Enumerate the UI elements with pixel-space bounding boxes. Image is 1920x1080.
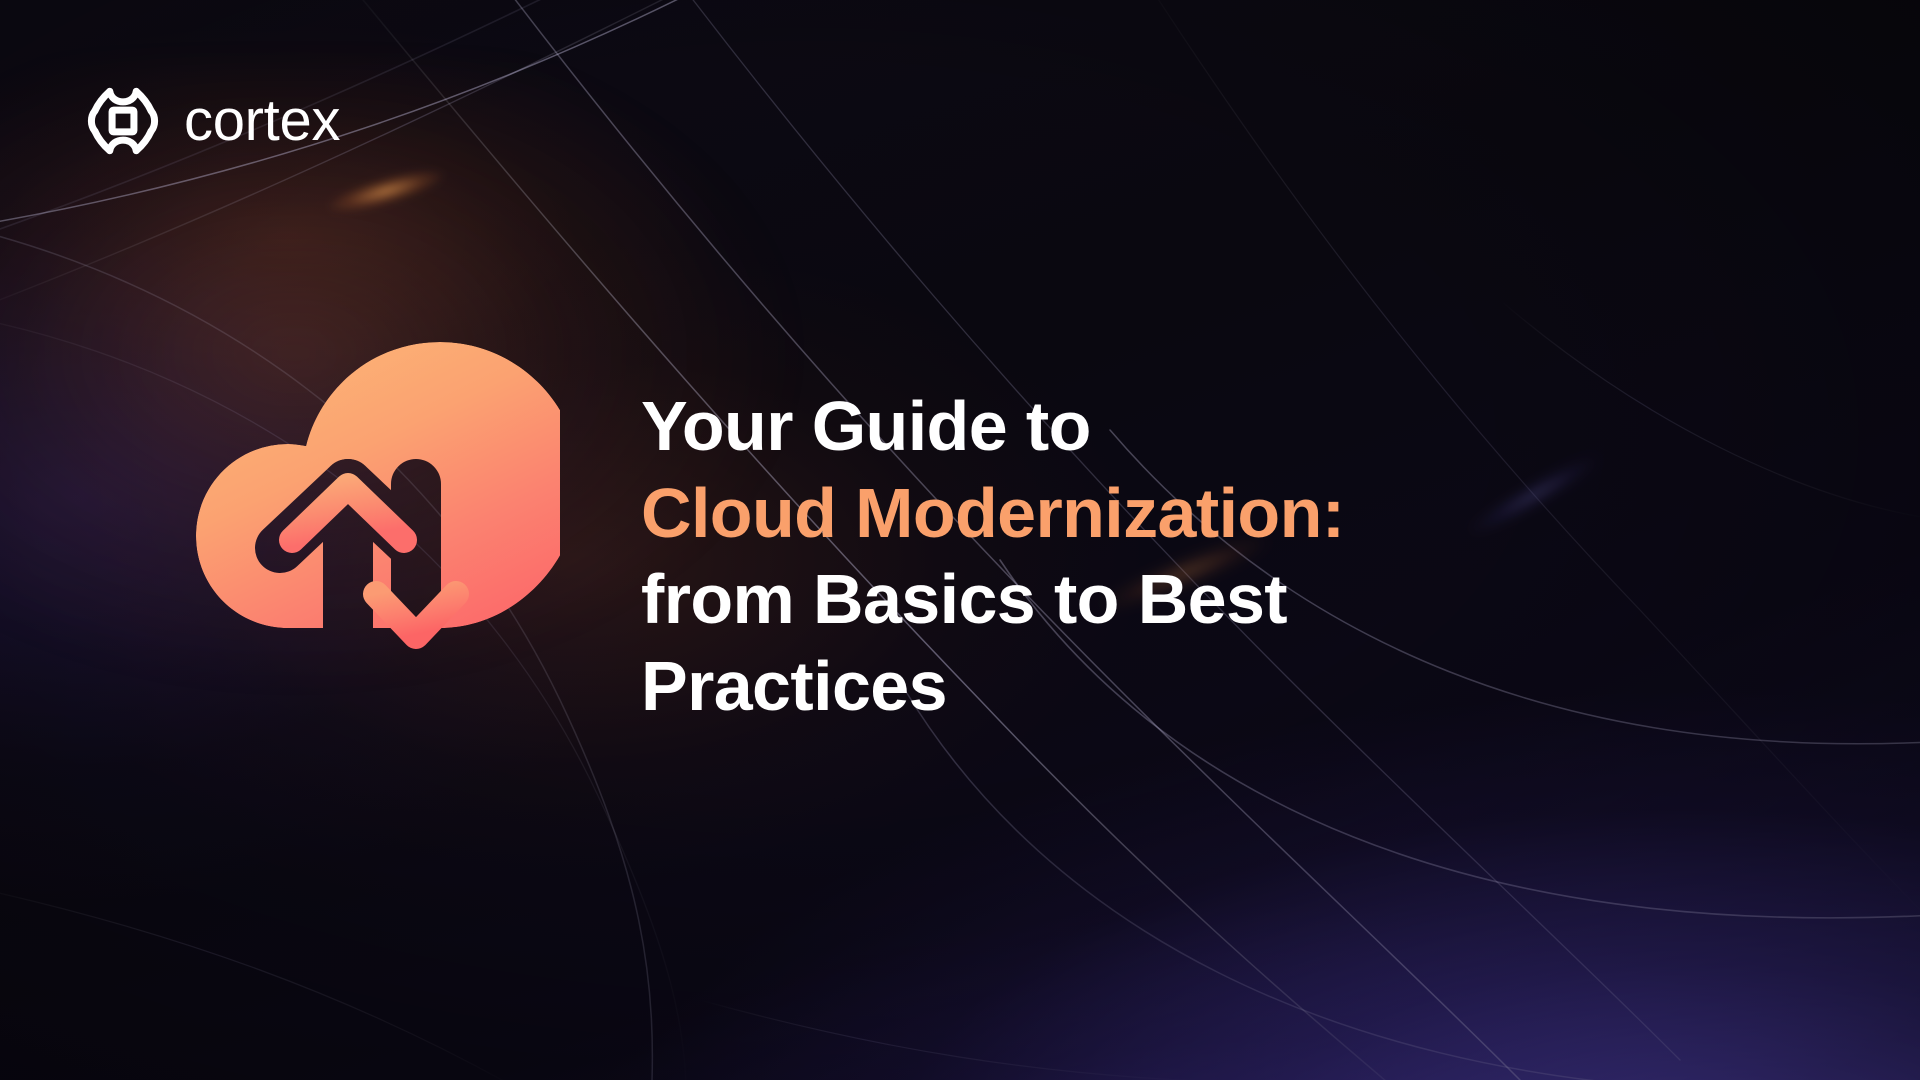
cortex-wordmark: cortex [184, 92, 340, 150]
headline-line-2: Cloud Modernization: [641, 470, 1441, 557]
hero-banner: cortex [0, 0, 1920, 1080]
cortex-logo[interactable]: cortex [84, 82, 340, 160]
headline-line-4: Practices [641, 643, 1441, 730]
cortex-x-mark-icon [84, 82, 162, 160]
cloud-upload-download-icon [180, 288, 560, 658]
headline-line-1: Your Guide to [641, 383, 1441, 470]
hero-headline: Your Guide to Cloud Modernization: from … [641, 383, 1441, 730]
headline-line-3: from Basics to Best [641, 556, 1441, 643]
